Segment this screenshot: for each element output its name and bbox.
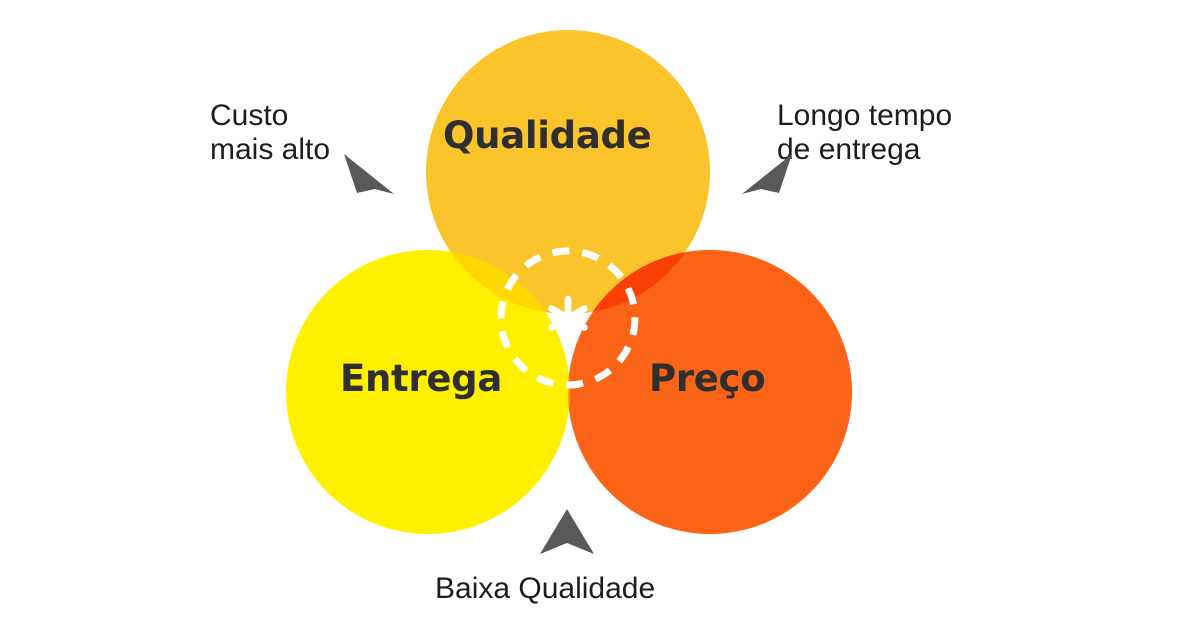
circle-label-qualidade: Qualidade — [443, 117, 651, 154]
arrow-baixa-icon — [538, 508, 596, 556]
arrow-custo-icon — [342, 148, 396, 196]
circle-label-preco: Preço — [649, 360, 765, 397]
venn-circles-svg — [0, 0, 1200, 628]
circle-label-entrega: Entrega — [340, 360, 502, 397]
callout-custo-mais-alto: Custo mais alto — [210, 99, 330, 167]
arrow-longo-icon — [740, 148, 794, 196]
venn-diagram-canvas: Qualidade Entrega Preço Custo mais alto … — [0, 0, 1200, 628]
callout-longo-tempo-de-entrega: Longo tempo de entrega — [777, 99, 952, 167]
callout-baixa-qualidade: Baixa Qualidade — [435, 572, 655, 606]
